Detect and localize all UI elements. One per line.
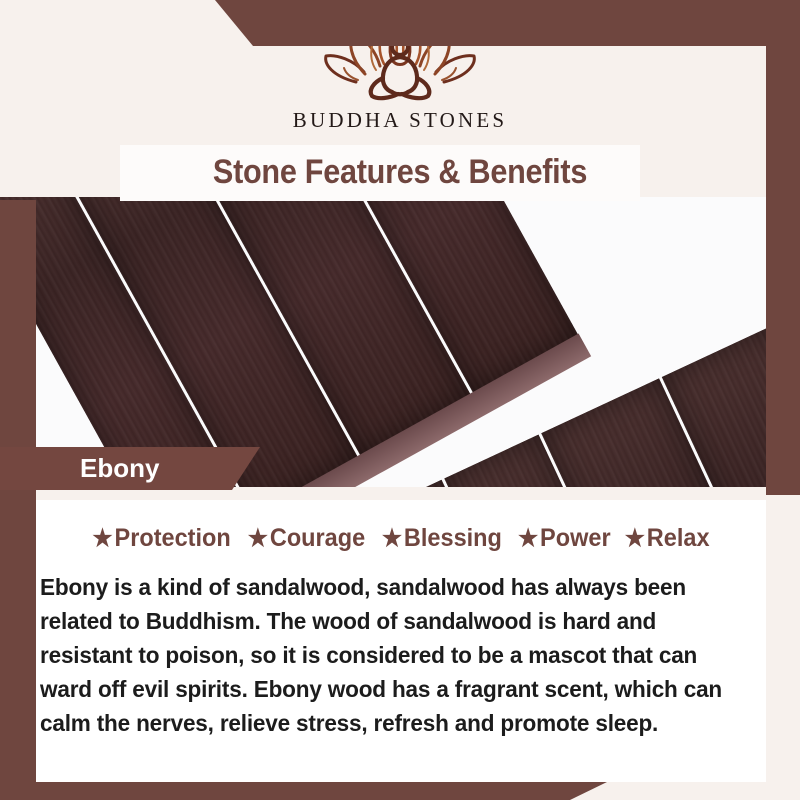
benefit-label: Relax [647, 524, 710, 552]
star-icon: ★ [517, 525, 537, 552]
benefits-list: ★Protection★Courage★Blessing★Power★Relax [0, 524, 800, 553]
frame-right-bar [766, 0, 800, 495]
benefit-label: Protection [114, 524, 230, 552]
frame-left-bar [0, 200, 36, 800]
poster-root: BUDDHA STONES Stone Features & Benefits … [0, 0, 800, 800]
benefit-item: ★Protection [92, 524, 230, 553]
hero-image [0, 197, 800, 487]
product-label: Ebony [80, 447, 159, 490]
brand-name: BUDDHA STONES [293, 108, 508, 133]
benefit-item: ★Power [517, 524, 610, 553]
star-icon: ★ [625, 525, 645, 552]
benefit-item: ★Relax [625, 524, 710, 553]
benefit-label: Blessing [404, 524, 502, 552]
benefit-item: ★Courage [248, 524, 365, 553]
description-text: Ebony is a kind of sandalwood, sandalwoo… [40, 570, 736, 740]
benefit-label: Power [540, 524, 611, 552]
star-icon: ★ [248, 525, 268, 552]
star-icon: ★ [382, 525, 402, 552]
benefit-item: ★Blessing [382, 524, 502, 553]
page-title: Stone Features & Benefits [40, 146, 760, 198]
star-icon: ★ [92, 525, 112, 552]
benefit-label: Courage [270, 524, 365, 552]
